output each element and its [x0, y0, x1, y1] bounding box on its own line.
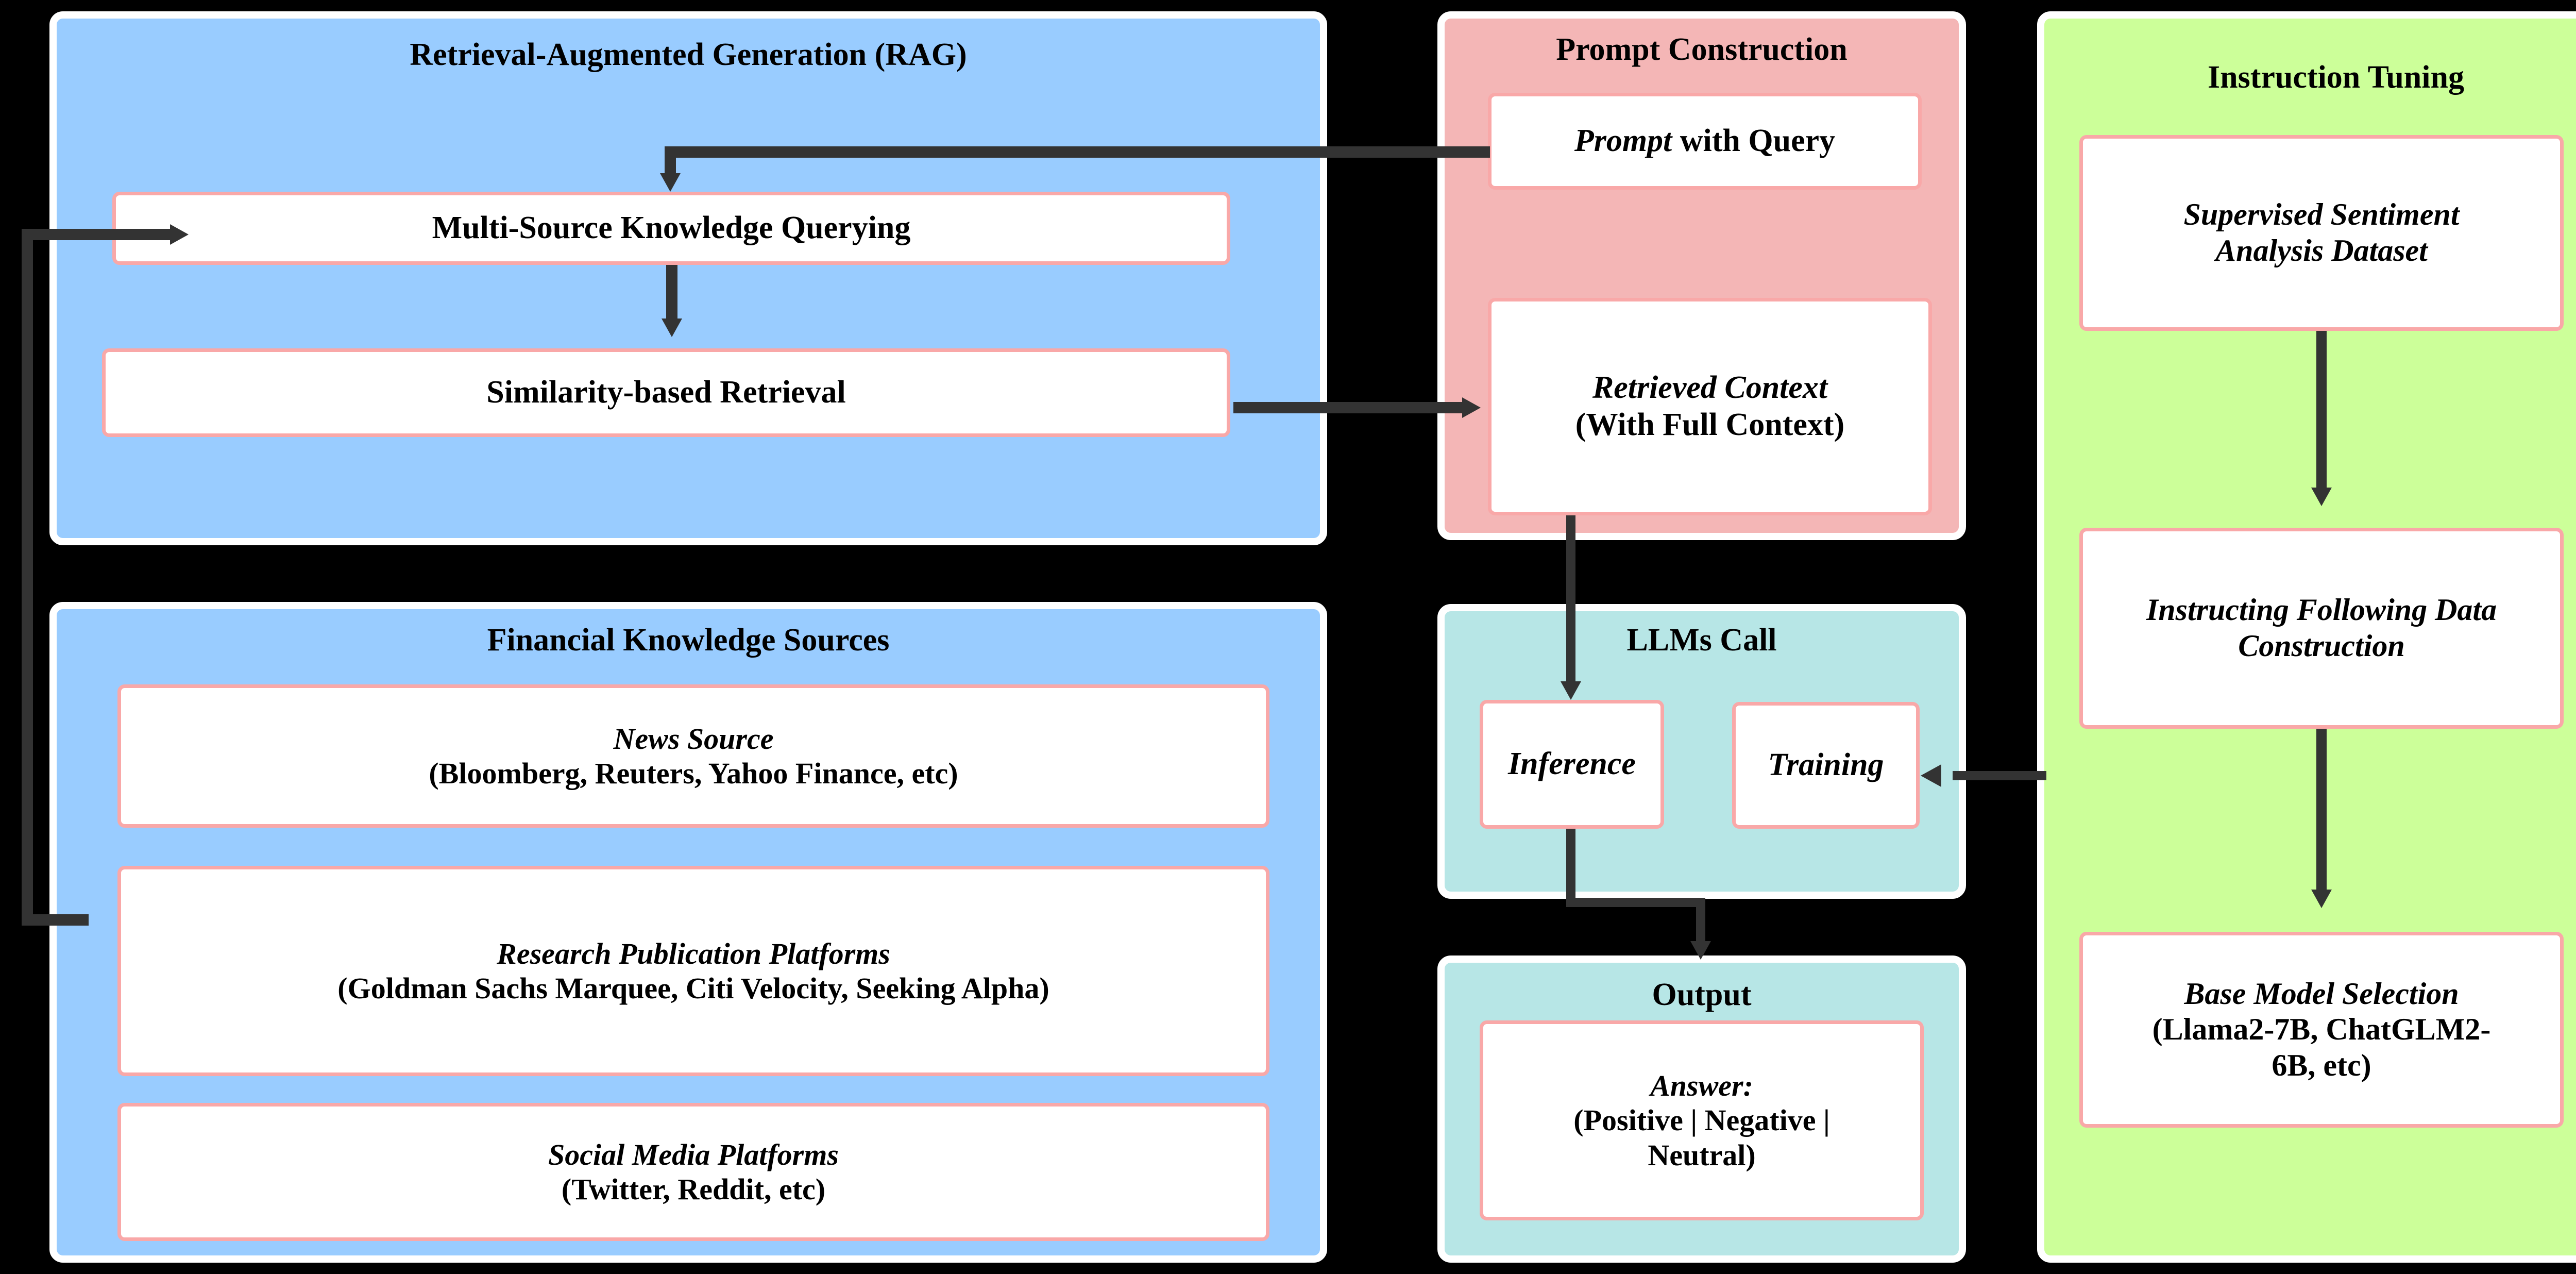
connector-inference-to-output-vertical-1 — [1566, 829, 1575, 907]
node-social-media-examples: (Twitter, Reddit, etc) — [562, 1172, 825, 1206]
node-base-model-line-3: 6B, etc) — [2272, 1048, 2371, 1084]
node-base-model-selection[interactable]: Base Model Selection (Llama2-7B, ChatGLM… — [2079, 932, 2564, 1128]
connector-prompt-to-multisource-horizontal — [665, 146, 1490, 158]
panel-rag: Retrieval-Augmented Generation (RAG) — [49, 11, 1327, 545]
panel-instruction-tuning-title: Instruction Tuning — [2044, 61, 2576, 94]
node-multi-source-knowledge-querying[interactable]: Multi-Source Knowledge Querying — [112, 192, 1230, 265]
node-answer-label: Answer: — [1650, 1068, 1753, 1103]
node-base-model-line-1: Base Model Selection — [2184, 976, 2459, 1012]
node-supervised-sentiment-dataset[interactable]: Supervised Sentiment Analysis Dataset — [2079, 135, 2564, 331]
node-ift-data-line-2: Construction — [2238, 628, 2404, 664]
connector-context-to-inference-arrowhead — [1561, 681, 1581, 700]
connector-dataset-to-iftdata-line — [2316, 331, 2327, 492]
node-answer-options-1: (Positive | Negative | — [1573, 1103, 1829, 1137]
node-research-platforms-examples: (Goldman Sachs Marquee, Citi Velocity, S… — [337, 971, 1049, 1005]
panel-prompt-construction-title: Prompt Construction — [1445, 33, 1959, 66]
connector-basemodel-to-training-arrowhead — [1921, 764, 1941, 787]
node-research-platforms-title: Research Publication Platforms — [497, 936, 890, 971]
node-retrieved-context[interactable]: Retrieved Context (With Full Context) — [1488, 298, 1932, 515]
node-retrieved-context-sub: (With Full Context) — [1575, 407, 1844, 444]
connector-context-to-inference-line — [1566, 515, 1575, 685]
node-prompt-rest: with Query — [1672, 123, 1835, 158]
connector-sources-to-multisource-bottom — [22, 914, 89, 926]
panel-rag-title: Retrieval-Augmented Generation (RAG) — [57, 38, 1320, 72]
node-answer-options-2: Neutral) — [1648, 1138, 1755, 1172]
node-base-model-line-2: (Llama2-7B, ChatGLM2- — [2153, 1012, 2491, 1048]
panel-llms-call-title: LLMs Call — [1445, 624, 1959, 657]
node-social-media-title: Social Media Platforms — [548, 1137, 839, 1172]
node-prompt-emphasis: Prompt — [1574, 123, 1672, 158]
node-answer[interactable]: Answer: (Positive | Negative | Neutral) — [1480, 1020, 1924, 1220]
node-prompt-with-query-label: Prompt with Query — [1574, 123, 1835, 160]
node-prompt-with-query[interactable]: Prompt with Query — [1488, 93, 1922, 190]
diagram-canvas: Retrieval-Augmented Generation (RAG) Mul… — [0, 0, 2576, 1274]
node-news-source[interactable]: News Source (Bloomberg, Reuters, Yahoo F… — [117, 684, 1269, 828]
node-dataset-line-1: Supervised Sentiment — [2183, 197, 2459, 233]
node-training[interactable]: Training — [1732, 702, 1920, 829]
connector-dataset-to-iftdata-arrowhead — [2311, 488, 2332, 506]
connector-prompt-to-multisource-arrowhead — [660, 173, 681, 192]
connector-iftdata-to-basemodel-arrowhead — [2311, 890, 2332, 908]
connector-prompt-to-multisource-vertical — [665, 146, 676, 176]
connector-sources-to-multisource-arrowhead — [170, 224, 189, 245]
connector-inference-to-output-arrowhead — [1690, 941, 1711, 960]
connector-sources-to-multisource-top — [22, 229, 176, 240]
node-inference[interactable]: Inference — [1480, 700, 1664, 829]
node-multi-source-label: Multi-Source Knowledge Querying — [432, 210, 911, 247]
connector-iftdata-to-basemodel-line — [2316, 729, 2327, 894]
node-news-source-examples: (Bloomberg, Reuters, Yahoo Finance, etc) — [429, 756, 958, 791]
panel-knowledge-sources-title: Financial Knowledge Sources — [57, 624, 1320, 657]
panel-output-title: Output — [1445, 978, 1959, 1012]
node-similarity-based-retrieval[interactable]: Similarity-based Retrieval — [102, 348, 1230, 437]
node-similarity-label: Similarity-based Retrieval — [486, 374, 845, 411]
connector-basemodel-to-training-line — [1953, 771, 2046, 780]
node-retrieved-context-title: Retrieved Context — [1592, 370, 1827, 407]
node-training-label: Training — [1768, 747, 1884, 784]
node-research-publication-platforms[interactable]: Research Publication Platforms (Goldman … — [117, 866, 1269, 1076]
node-dataset-line-2: Analysis Dataset — [2215, 233, 2428, 269]
connector-sources-to-multisource-vertical — [22, 229, 33, 926]
connector-similarity-to-context-line — [1233, 402, 1464, 413]
node-inference-label: Inference — [1508, 746, 1636, 783]
node-instructing-following-data-construction[interactable]: Instructing Following Data Construction — [2079, 528, 2564, 729]
connector-multisource-to-similarity-line — [666, 265, 677, 322]
node-ift-data-line-1: Instructing Following Data — [2146, 592, 2497, 628]
connector-similarity-to-context-arrowhead — [1462, 397, 1481, 418]
node-news-source-title: News Source — [614, 722, 774, 756]
node-social-media-platforms[interactable]: Social Media Platforms (Twitter, Reddit,… — [117, 1103, 1269, 1241]
connector-inference-to-output-horizontal — [1566, 898, 1705, 907]
connector-inference-to-output-vertical-2 — [1696, 898, 1705, 945]
connector-multisource-to-similarity-arrowhead — [662, 318, 682, 337]
